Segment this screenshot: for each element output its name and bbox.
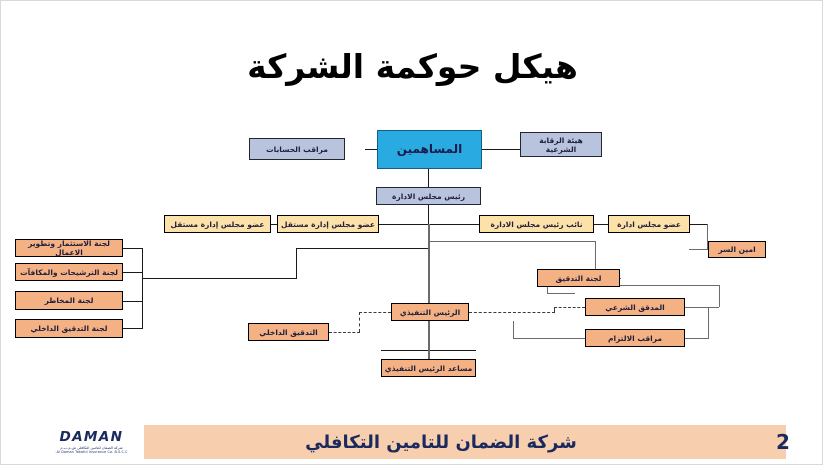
node-shareholders[interactable]: المساهمين [377, 130, 482, 169]
dashed-sharia-auditor-in [554, 307, 585, 308]
dashed-ceo-right [469, 312, 555, 313]
connector-chairman-spine [428, 205, 429, 224]
connector-board-spine-c [594, 224, 608, 225]
node-committee-internal-audit[interactable]: لجنة التدقيق الداخلي [15, 319, 123, 338]
company-logo: DAMAN شركة الضمان للتامين التكافلي ش.م.ب… [39, 425, 144, 459]
dashed-internal-audit-vert [359, 312, 360, 332]
node-sharia-auditor[interactable]: المدقق الشرعي [585, 298, 685, 316]
node-independent-member-2[interactable]: عضو مجلس إدارة مستقل [277, 215, 379, 233]
connector-secretary-horiz [689, 249, 709, 250]
node-chairman[interactable]: رئيس مجلس الادارة [376, 187, 481, 205]
node-secretary[interactable]: امين السر [708, 241, 766, 258]
connector-committee-internal-audit [123, 328, 142, 329]
node-vice-chairman[interactable]: نائب رئيس مجلس الادارة [479, 215, 594, 233]
node-committee-risk[interactable]: لجنة المخاطر [15, 291, 123, 310]
connector-committee-nomination [123, 272, 142, 273]
connector-audit-branch-top [428, 241, 596, 242]
connector-compliance-right-vert [708, 307, 709, 339]
sharia-board-line-2: الشرعية [546, 145, 576, 154]
logo-wordmark: DAMAN [60, 430, 124, 445]
dashed-ceo-left [359, 312, 391, 313]
footer-company-name: شركة الضمان للتامين التكافلي [161, 425, 721, 459]
connector-board-spine-d [690, 224, 708, 225]
connector-sharia-auditor-in [685, 307, 719, 308]
dashed-internal-audit-in [329, 332, 360, 333]
connector-committee-investment [123, 248, 142, 249]
connector-shareholders-sharia [482, 149, 520, 150]
node-committee-nomination[interactable]: لجنة الترشيحات والمكافآت [15, 263, 123, 281]
connector-bus-to-trunk [296, 248, 428, 249]
connector-audit-down-run [547, 293, 575, 294]
connector-compliance-in [513, 338, 585, 339]
node-internal-audit[interactable]: التدقيق الداخلي [248, 323, 329, 341]
connector-bus-run-right [142, 278, 296, 279]
connector-trunk-to-assistant [428, 323, 430, 351]
logo-subtitle-english: Al Daman Takaful Insurance Co. B.S.C.C. [55, 450, 127, 454]
connector-committee-risk [123, 301, 142, 302]
connector-auditor-shareholders [365, 149, 377, 150]
connector-compliance-right [685, 338, 709, 339]
node-board-member[interactable]: عضو مجلس ادارة [608, 215, 690, 233]
connector-bus-step-up [296, 248, 297, 279]
connector-audit-out-vert [719, 285, 720, 307]
node-auditor[interactable]: مراقب الحسابات [249, 138, 345, 160]
connector-committee-bus [142, 248, 143, 329]
node-assistant-ceo[interactable]: مساعد الرئيس التنفيذي [381, 359, 476, 377]
node-sharia-supervisory-board[interactable]: هيئة الرقابة الشرعية [520, 132, 602, 157]
node-independent-member-1[interactable]: عضو مجلس إدارة مستقل [164, 215, 271, 233]
node-committee-investment[interactable]: لجنة الاستثمار وتطوير الاعمال [15, 239, 123, 257]
node-compliance-officer[interactable]: مراقب الالتزام [585, 329, 685, 347]
connector-audit-out [620, 285, 720, 286]
page-title: هيكل حوكمة الشركة [1, 45, 823, 89]
connector-compliance-vert [513, 321, 514, 339]
page-number: 2 [771, 425, 795, 459]
connector-shareholders-chairman [428, 169, 429, 187]
sharia-board-line-1: هيئة الرقابة [539, 136, 583, 145]
slide-canvas: هيكل حوكمة الشركة [0, 0, 823, 465]
node-committee-audit[interactable]: لجنة التدقيق [537, 269, 620, 287]
node-ceo[interactable]: الرئيس التنفيذي [391, 303, 469, 321]
